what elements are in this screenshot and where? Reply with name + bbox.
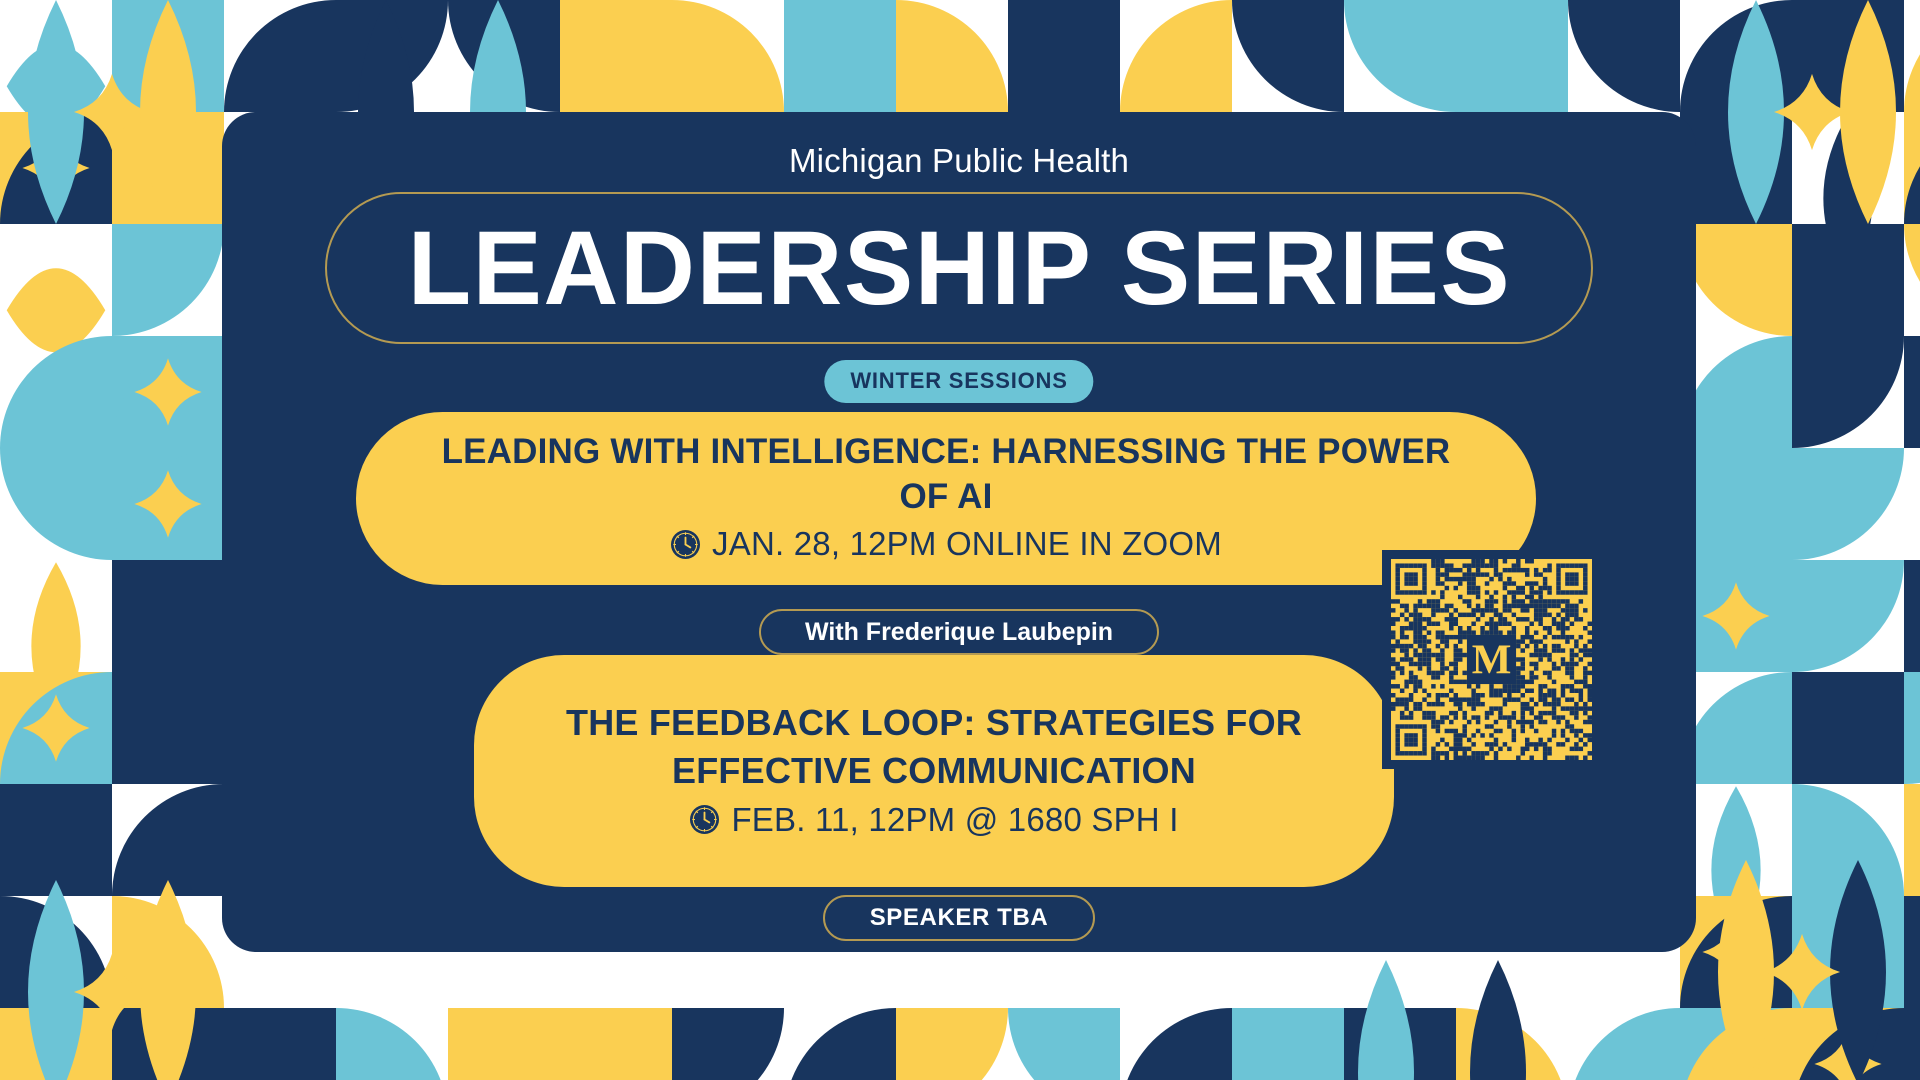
- session-card-1[interactable]: LEADING WITH INTELLIGENCE: HARNESSING TH…: [356, 412, 1536, 585]
- title-frame: LEADERSHIP SERIES: [325, 192, 1593, 344]
- session-title: THE FEEDBACK LOOP: STRATEGIES FOR EFFECT…: [534, 699, 1334, 794]
- svg-text:M: M: [1472, 637, 1512, 683]
- session-datetime: FEB. 11, 12PM @ 1680 SPH I: [689, 801, 1178, 839]
- poster-canvas: Michigan Public Health LEADERSHIP SERIES…: [0, 0, 1920, 1080]
- qr-code[interactable]: M: [1382, 550, 1601, 769]
- clock-icon: [670, 529, 701, 560]
- qr-code-icon: M: [1391, 559, 1592, 760]
- session-datetime: JAN. 28, 12PM ONLINE IN ZOOM: [670, 525, 1222, 563]
- clock-icon: [689, 804, 720, 835]
- session-card-2[interactable]: THE FEEDBACK LOOP: STRATEGIES FOR EFFECT…: [474, 655, 1394, 887]
- session-speaker-2: SPEAKER TBA: [823, 895, 1095, 941]
- page-title: LEADERSHIP SERIES: [407, 216, 1511, 321]
- season-badge: WINTER SESSIONS: [824, 360, 1093, 403]
- eyebrow-text: Michigan Public Health: [222, 142, 1696, 180]
- session-speaker-1: With Frederique Laubepin: [759, 609, 1159, 655]
- main-panel: Michigan Public Health LEADERSHIP SERIES…: [222, 112, 1696, 952]
- session-title: LEADING WITH INTELLIGENCE: HARNESSING TH…: [416, 430, 1476, 520]
- session-datetime-text: FEB. 11, 12PM @ 1680 SPH I: [731, 801, 1178, 839]
- session-datetime-text: JAN. 28, 12PM ONLINE IN ZOOM: [712, 525, 1222, 563]
